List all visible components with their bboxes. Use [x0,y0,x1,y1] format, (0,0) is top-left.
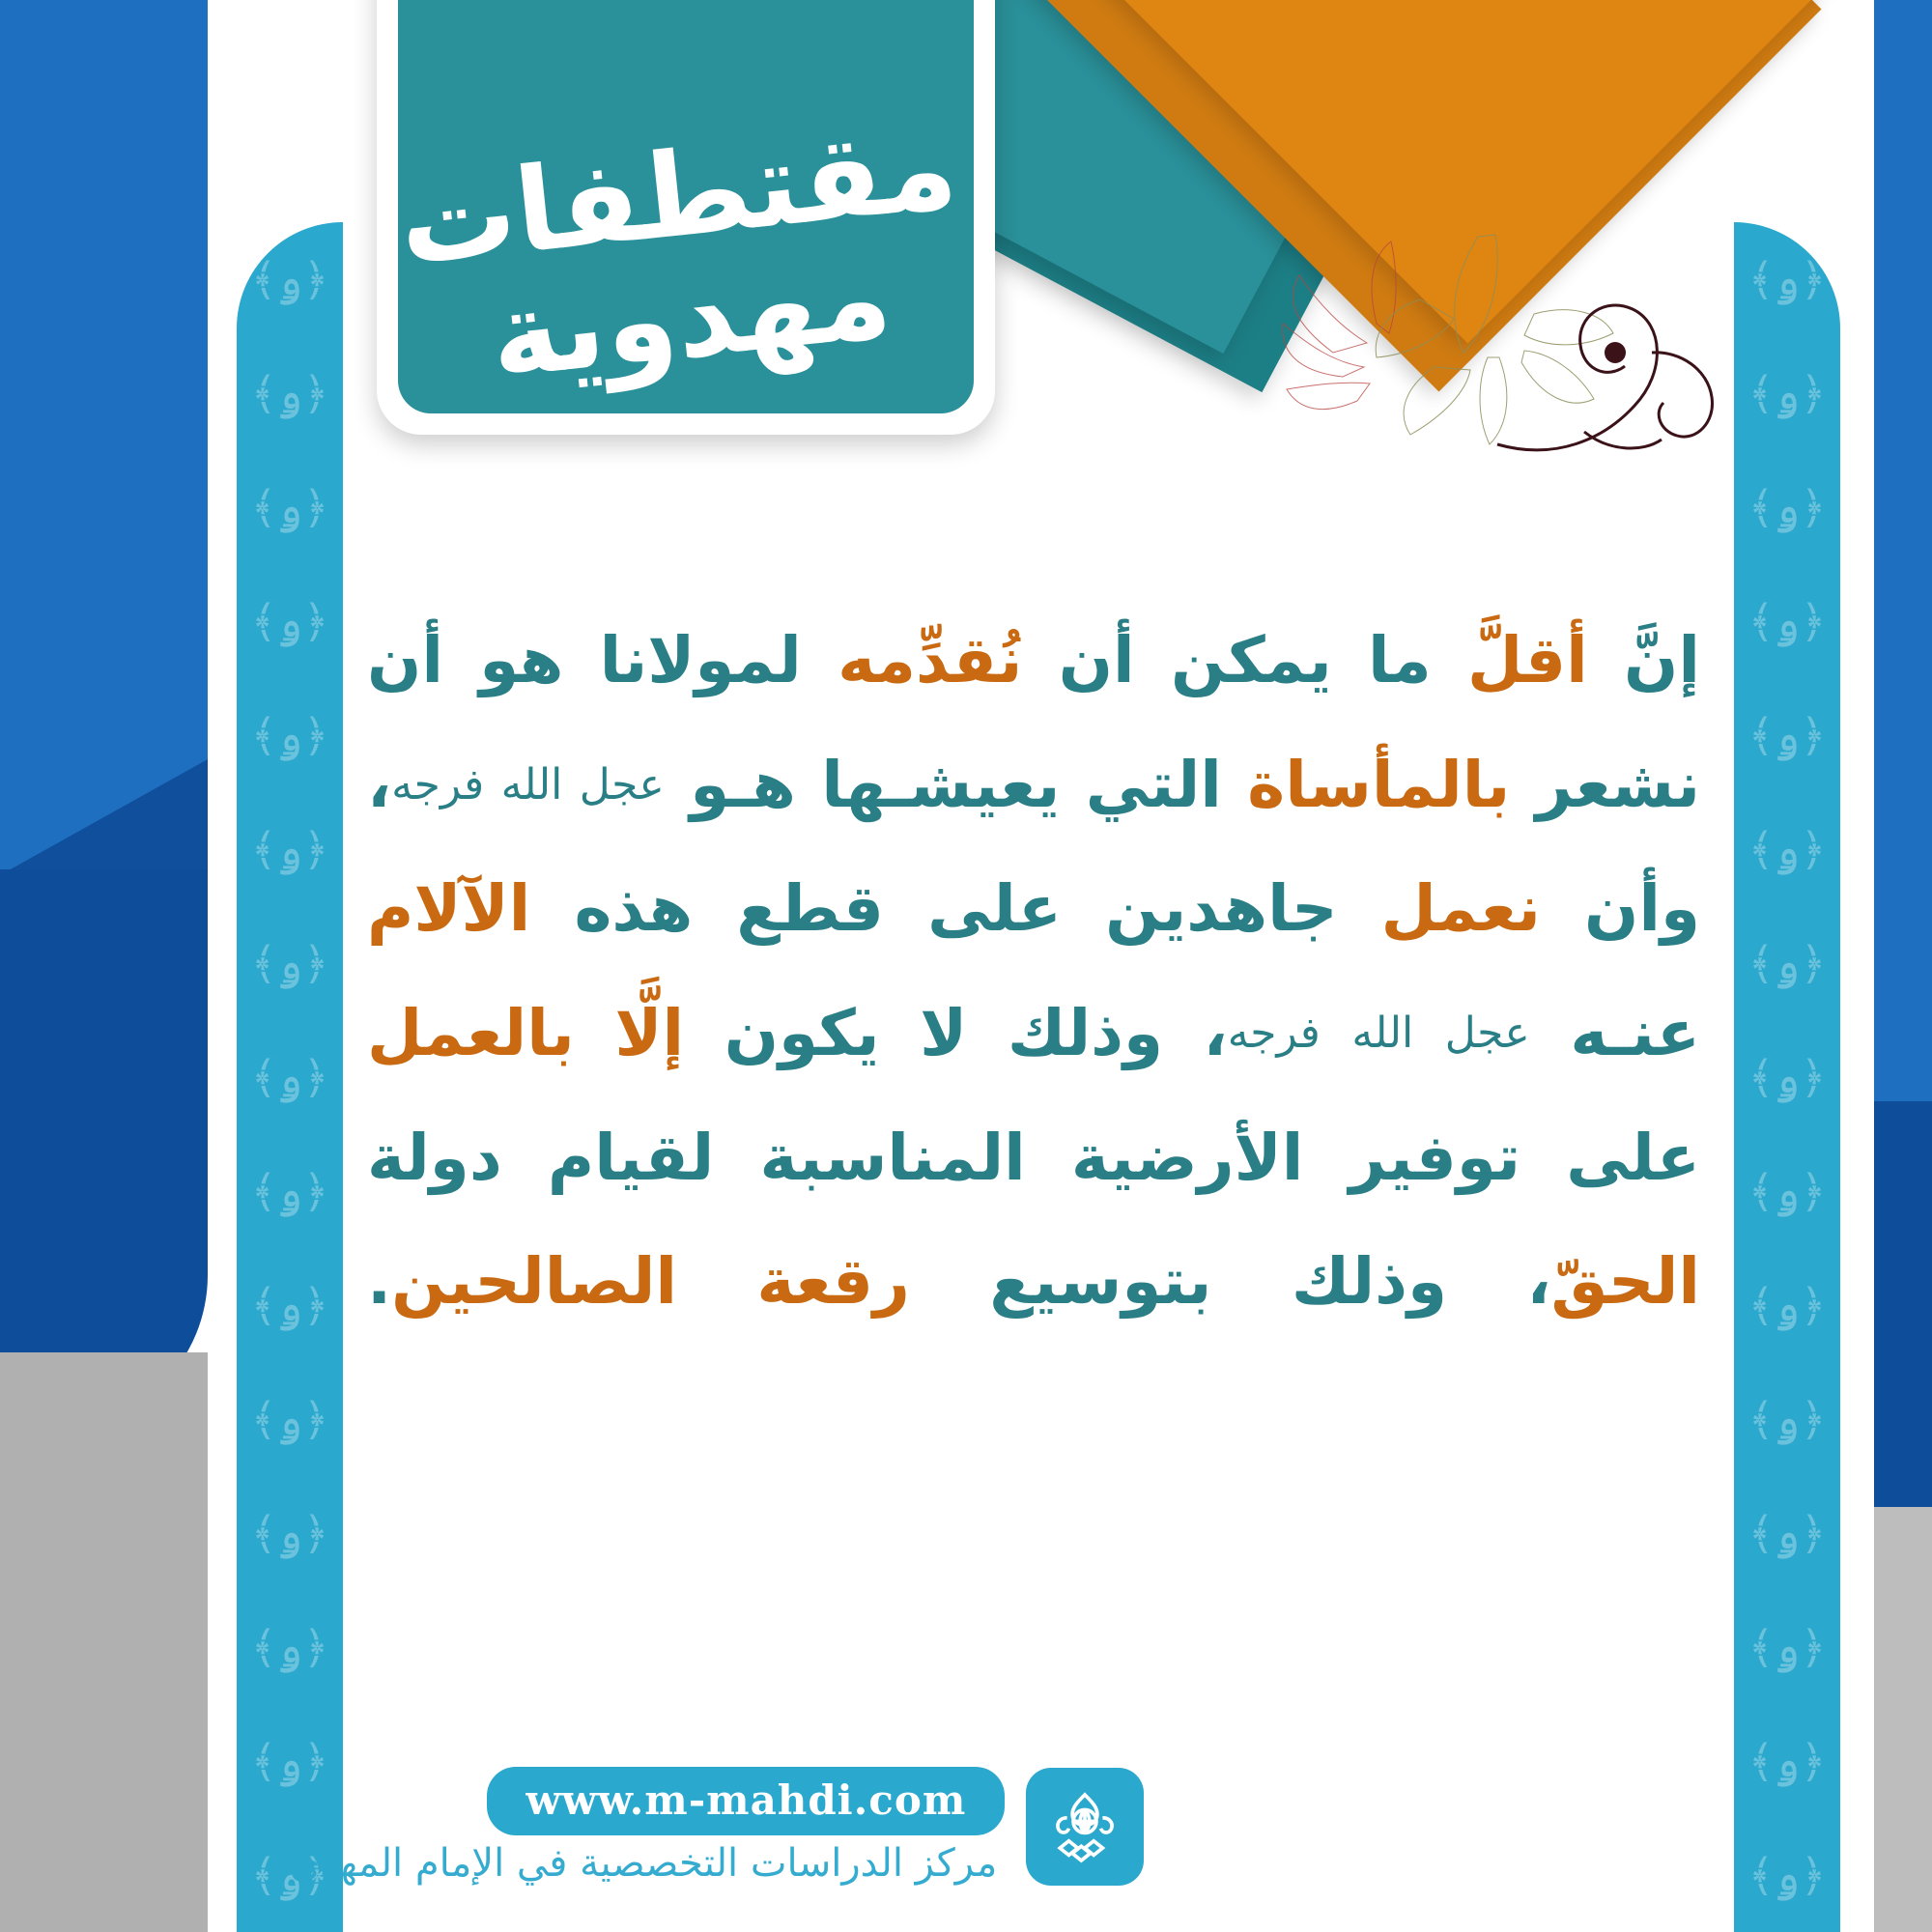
quote-seg-12: الآلام [367,871,530,946]
quote-seg-13: عنـه [1530,996,1700,1070]
right-frame-blue-top [1874,0,1932,1121]
page-title: مقتطفات مهدوية [398,104,974,413]
footer: www.m-mahdi.com مركز الدراسات التخصصية ف… [290,1767,1144,1886]
title-badge-inner: مقتطفات مهدوية [398,0,974,413]
quote-seg-4: نُقدِّمه [802,623,1023,697]
quote-seg-18: الحقّ [1551,1244,1700,1319]
quote-seg-17: على توفير الأرضية المناسبة لقيام دولة [367,1121,1700,1195]
poster-canvas: ﴿ۅ﴾ ﴿ۅ﴾ ﴿ۅ﴾ ﴿ۅ﴾ ﴿ۅ﴾ ﴿ۅ﴾ ﴿ۅ﴾ ﴿ۅ﴾ ﴿ۅ﴾ ﴿ۅ﴾ … [0,0,1932,1932]
title-badge: مقتطفات مهدوية [377,0,995,435]
quote-seg-6: بالمأساة [1222,748,1510,822]
ornament-motif-left: ﴿ۅ﴾ ﴿ۅ﴾ ﴿ۅ﴾ ﴿ۅ﴾ ﴿ۅ﴾ ﴿ۅ﴾ ﴿ۅ﴾ ﴿ۅ﴾ ﴿ۅ﴾ ﴿ۅ﴾ … [237,222,343,1932]
honorific-glyph-2: عجل الله فرجه [1228,1009,1530,1058]
quote-seg-20: رقعة الصالحين [391,1244,910,1319]
quote-seg-7: التي يعيشـها هـو [665,748,1222,822]
quote-seg-15: ، وذلك لا يكون [684,996,1228,1070]
quote-seg-21: . [367,1244,391,1319]
left-frame-blue-bottom [0,869,208,1430]
footer-text-group: www.m-mahdi.com مركز الدراسات التخصصية ف… [290,1767,1005,1886]
left-ornament-column: ﴿ۅ﴾ ﴿ۅ﴾ ﴿ۅ﴾ ﴿ۅ﴾ ﴿ۅ﴾ ﴿ۅ﴾ ﴿ۅ﴾ ﴿ۅ﴾ ﴿ۅ﴾ ﴿ۅ﴾ … [237,222,343,1932]
quote-seg-10: نعمل [1338,871,1541,946]
quote-seg-11: جاهدين على قطع هذه [530,871,1337,946]
right-frame-grey [1874,1507,1932,1932]
quote-seg-2: أقلَّ [1432,623,1588,697]
quote-seg-1: إنَّ [1588,623,1700,697]
website-url[interactable]: www.m-mahdi.com [487,1767,1005,1835]
left-frame-grey [0,1391,208,1932]
honorific-glyph-1: عجل الله فرجه [391,760,665,810]
globe-dome-logo-icon [1026,1768,1144,1886]
quote-seg-3: ما يمكن أن [1022,623,1431,697]
quote-seg-16: إلَّا بالعمل [367,996,684,1070]
center-name: مركز الدراسات التخصصية في الإمام المهدي [290,1841,1005,1886]
quote-text: إنَّ أقلَّ ما يمكن أن نُقدِّمه لمولانا ه… [367,599,1700,1345]
quote-seg-19: ، وذلك بتوسيع [910,1244,1551,1319]
left-frame-blue-top [0,0,208,874]
right-ornament-column: ﴿ۅ﴾ ﴿ۅ﴾ ﴿ۅ﴾ ﴿ۅ﴾ ﴿ۅ﴾ ﴿ۅ﴾ ﴿ۅ﴾ ﴿ۅ﴾ ﴿ۅ﴾ ﴿ۅ﴾ … [1734,222,1840,1932]
ornament-motif-right: ﴿ۅ﴾ ﴿ۅ﴾ ﴿ۅ﴾ ﴿ۅ﴾ ﴿ۅ﴾ ﴿ۅ﴾ ﴿ۅ﴾ ﴿ۅ﴾ ﴿ۅ﴾ ﴿ۅ﴾ … [1734,222,1840,1932]
